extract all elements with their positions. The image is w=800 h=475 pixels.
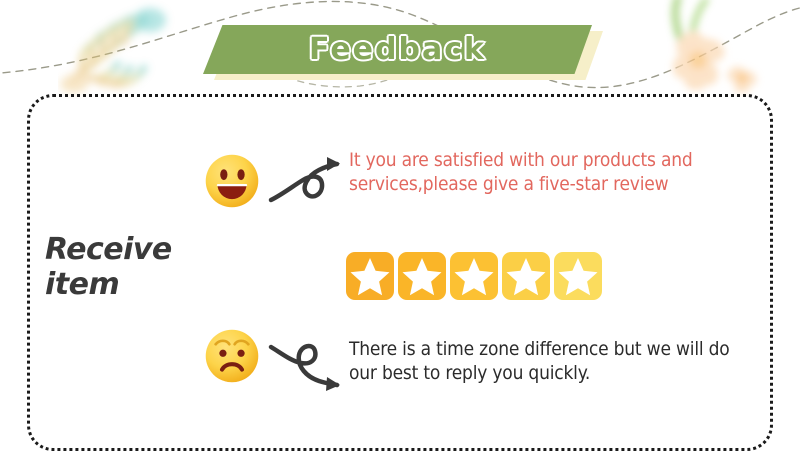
star-tile-5[interactable] — [554, 252, 602, 300]
curly-arrow-up-right-icon — [267, 150, 347, 216]
receive-item-line1: Receive — [45, 232, 172, 267]
star-tile-1[interactable] — [346, 252, 394, 300]
star-tile-3[interactable] — [450, 252, 498, 300]
star-tile-4[interactable] — [502, 252, 550, 300]
page-title: Feedback — [203, 25, 592, 74]
feedback-banner: Feedback — [203, 25, 603, 80]
worried-face-icon — [203, 327, 261, 385]
receive-item-line2: item — [45, 267, 225, 302]
smiling-face-icon — [203, 152, 261, 210]
star-tile-2[interactable] — [398, 252, 446, 300]
receive-item-label: Receive item — [45, 232, 225, 303]
star-rating[interactable] — [346, 252, 602, 300]
positive-feedback-text: It you are satisfied with our products a… — [349, 148, 749, 197]
feedback-infographic: Feedback Receive item — [0, 0, 800, 475]
fern-leaf-icon — [58, 0, 193, 99]
negative-feedback-text: There is a time zone difference but we w… — [349, 337, 749, 386]
flower-icon — [648, 0, 800, 97]
curly-arrow-down-right-icon — [267, 333, 347, 399]
